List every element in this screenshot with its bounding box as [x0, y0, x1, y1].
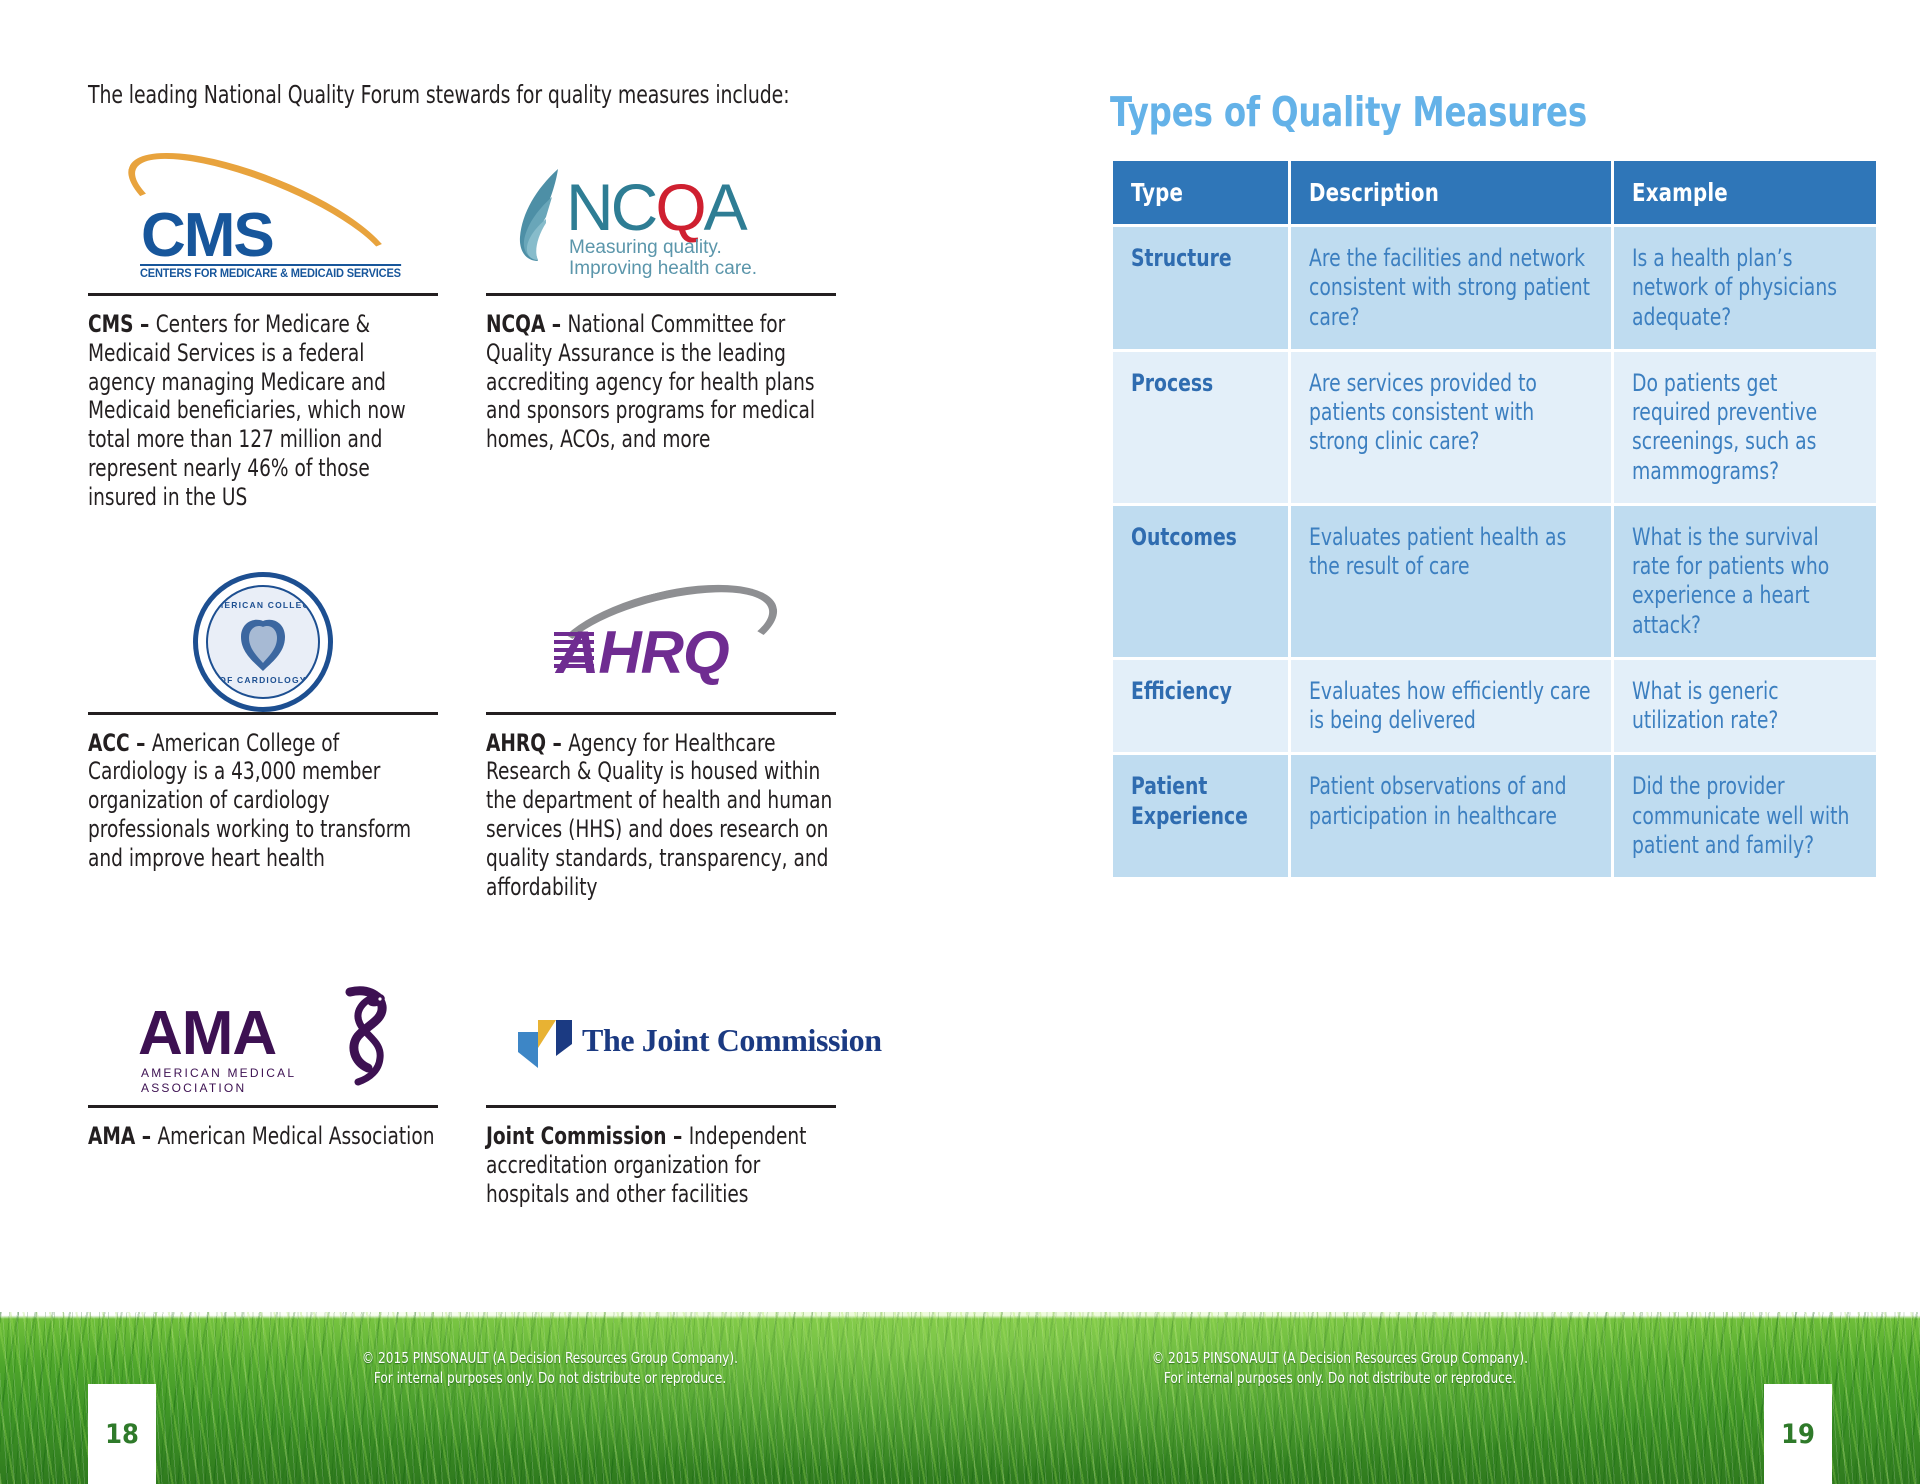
cell-example: Do patients get required preventive scre…: [1614, 352, 1876, 503]
ncqa-a: A: [704, 170, 745, 244]
ahrq-logo: AHRQ: [546, 592, 776, 692]
steward-entry-acc: AMERICAN COLLEGE OF CARDIOLOGY ACC – Ame…: [88, 572, 438, 902]
document-page: The leading National Quality Forum stewa…: [0, 0, 1920, 1484]
ama-logo-box: AMA AMERICAN MEDICAL ASSOCIATION: [88, 985, 438, 1105]
steward-entry-ama: AMA AMERICAN MEDICAL ASSOCIATION: [88, 985, 438, 1208]
divider-rule: [486, 712, 836, 715]
steward-row: CMS CENTERS FOR MEDICARE & MEDICAID SERV…: [88, 153, 848, 512]
grass-footer-image: [0, 1312, 1920, 1484]
cms-wordmark: CMS: [141, 200, 273, 271]
page-number-left: 18: [88, 1384, 156, 1484]
ncqa-description: NCQA – National Committee for Quality As…: [486, 310, 835, 454]
table-row: Efficiency Evaluates how efficiently car…: [1113, 660, 1876, 753]
ama-wordmark: AMA: [138, 998, 276, 1069]
table-row: Outcomes Evaluates patient health as the…: [1113, 506, 1876, 657]
cms-description-text: Centers for Medicare & Medicaid Services…: [88, 310, 406, 511]
table-header: Type Description Example: [1113, 161, 1876, 224]
steward-logo-grid: CMS CENTERS FOR MEDICARE & MEDICAID SERV…: [88, 153, 848, 1209]
copyright-right: © 2015 PINSONAULT (A Decision Resources …: [1060, 1348, 1620, 1389]
cell-description: Are services provided to patients consis…: [1291, 352, 1611, 503]
acc-dash: –: [130, 729, 152, 757]
cms-abbr: CMS: [88, 310, 133, 338]
cell-type: Efficiency: [1113, 660, 1288, 753]
cms-description: CMS – Centers for Medicare & Medicaid Se…: [88, 310, 437, 512]
joint-commission-mark-icon: [516, 1018, 574, 1070]
divider-rule: [88, 293, 438, 296]
copyright-left-line-1: © 2015 PINSONAULT (A Decision Resources …: [298, 1348, 802, 1368]
ncqa-tagline-2: Improving health care.: [569, 258, 757, 279]
divider-rule: [88, 712, 438, 715]
joint-commission-abbr: Joint Commission: [486, 1122, 666, 1150]
cell-type: Outcomes: [1113, 506, 1288, 657]
steward-entry-ahrq: AHRQ AHRQ – Agency for Healthcare Resear…: [486, 572, 836, 902]
cms-dash: –: [133, 310, 155, 338]
ncqa-dash: –: [545, 310, 567, 338]
ama-logo: AMA AMERICAN MEDICAL ASSOCIATION: [138, 990, 388, 1100]
ama-description-text: American Medical Association: [157, 1122, 434, 1150]
ama-subtitle: AMERICAN MEDICAL ASSOCIATION: [141, 1066, 296, 1096]
page-number-right: 19: [1764, 1384, 1832, 1484]
cell-description: Evaluates how efficiently care is being …: [1291, 660, 1611, 753]
cell-description: Are the facilities and network consisten…: [1291, 227, 1611, 349]
ncqa-flame-icon: [516, 167, 572, 263]
column-header-description: Description: [1291, 161, 1611, 224]
cell-type: Patient Experience: [1113, 755, 1288, 877]
cms-logo: CMS CENTERS FOR MEDICARE & MEDICAID SERV…: [113, 168, 413, 278]
cell-description: Evaluates patient health as the result o…: [1291, 506, 1611, 657]
ahrq-abbr: AHRQ: [486, 729, 546, 757]
ama-abbr: AMA: [88, 1122, 135, 1150]
acc-ring-text-bottom: OF CARDIOLOGY: [208, 675, 318, 685]
cell-type: Structure: [1113, 227, 1288, 349]
ahrq-description: AHRQ – Agency for Healthcare Research & …: [486, 729, 835, 902]
page-title: Types of Quality Measures: [1110, 88, 1779, 136]
steward-row: AMA AMERICAN MEDICAL ASSOCIATION: [88, 985, 848, 1208]
cell-example: Did the provider communicate well with p…: [1614, 755, 1876, 877]
ama-subtitle-1: AMERICAN MEDICAL: [141, 1066, 296, 1081]
divider-rule: [486, 1105, 836, 1108]
steward-entry-ncqa: NCQA Measuring quality. Improving health…: [486, 153, 836, 512]
cell-type: Process: [1113, 352, 1288, 503]
ama-description: AMA – American Medical Association: [88, 1122, 437, 1151]
acc-logo: AMERICAN COLLEGE OF CARDIOLOGY: [193, 572, 333, 712]
table-header-row: Type Description Example: [1113, 161, 1876, 224]
cms-subtitle: CENTERS FOR MEDICARE & MEDICAID SERVICES: [140, 264, 401, 280]
steward-entry-joint-commission: The Joint Commission Joint Commission – …: [486, 985, 836, 1208]
table-row: Process Are services provided to patient…: [1113, 352, 1876, 503]
ahrq-dash: –: [546, 729, 568, 757]
ahrq-wordmark: AHRQ: [556, 618, 729, 687]
joint-commission-logo-box: The Joint Commission: [486, 985, 836, 1105]
acc-description: ACC – American College of Cardiology is …: [88, 729, 437, 873]
quality-measures-table: Type Description Example Structure Are t…: [1110, 158, 1879, 880]
joint-commission-description: Joint Commission – Independent accredita…: [486, 1122, 835, 1208]
acc-abbr: ACC: [88, 729, 130, 757]
ahrq-logo-box: AHRQ: [486, 572, 836, 712]
cell-example: What is the survival rate for patients w…: [1614, 506, 1876, 657]
left-page-column: The leading National Quality Forum stewa…: [88, 80, 848, 1227]
acc-ring-text-top: AMERICAN COLLEGE: [208, 600, 318, 610]
intro-text: The leading National Quality Forum stewa…: [88, 80, 726, 109]
ncqa-abbr: NCQA: [486, 310, 545, 338]
ama-subtitle-2: ASSOCIATION: [141, 1081, 296, 1096]
table-row: Patient Experience Patient observations …: [1113, 755, 1876, 877]
divider-rule: [486, 293, 836, 296]
ama-caduceus-icon: [332, 986, 394, 1090]
cms-logo-box: CMS CENTERS FOR MEDICARE & MEDICAID SERV…: [88, 153, 438, 293]
column-header-example: Example: [1614, 161, 1876, 224]
copyright-right-line-2: For internal purposes only. Do not distr…: [1088, 1368, 1592, 1388]
joint-commission-dash: –: [666, 1122, 688, 1150]
ncqa-logo: NCQA Measuring quality. Improving health…: [516, 163, 806, 283]
copyright-right-line-1: © 2015 PINSONAULT (A Decision Resources …: [1088, 1348, 1592, 1368]
copyright-left: © 2015 PINSONAULT (A Decision Resources …: [270, 1348, 830, 1389]
ncqa-q: Q: [655, 170, 703, 244]
ncqa-logo-box: NCQA Measuring quality. Improving health…: [486, 153, 836, 293]
grass-highlight: [0, 1312, 1920, 1484]
ncqa-nc: NC: [566, 170, 655, 244]
acc-logo-box: AMERICAN COLLEGE OF CARDIOLOGY: [88, 572, 438, 712]
steward-row: AMERICAN COLLEGE OF CARDIOLOGY ACC – Ame…: [88, 572, 848, 902]
joint-commission-logo: The Joint Commission: [516, 1014, 806, 1076]
right-page-column: Types of Quality Measures Type Descripti…: [1110, 88, 1870, 880]
ncqa-wordmark: NCQA: [566, 169, 745, 245]
cell-description: Patient observations of and participatio…: [1291, 755, 1611, 877]
table-body: Structure Are the facilities and network…: [1113, 227, 1876, 877]
cell-example: What is generic utilization rate?: [1614, 660, 1876, 753]
divider-rule: [88, 1105, 438, 1108]
ncqa-tagline-1: Measuring quality.: [569, 237, 757, 258]
table-row: Structure Are the facilities and network…: [1113, 227, 1876, 349]
joint-commission-wordmark: The Joint Commission: [582, 1022, 882, 1059]
column-header-type: Type: [1113, 161, 1288, 224]
ama-dash: –: [135, 1122, 157, 1150]
acc-heart-icon: [233, 613, 293, 675]
cell-example: Is a health plan’s network of physicians…: [1614, 227, 1876, 349]
ncqa-tagline: Measuring quality. Improving health care…: [569, 237, 757, 280]
steward-entry-cms: CMS CENTERS FOR MEDICARE & MEDICAID SERV…: [88, 153, 438, 512]
copyright-left-line-2: For internal purposes only. Do not distr…: [298, 1368, 802, 1388]
